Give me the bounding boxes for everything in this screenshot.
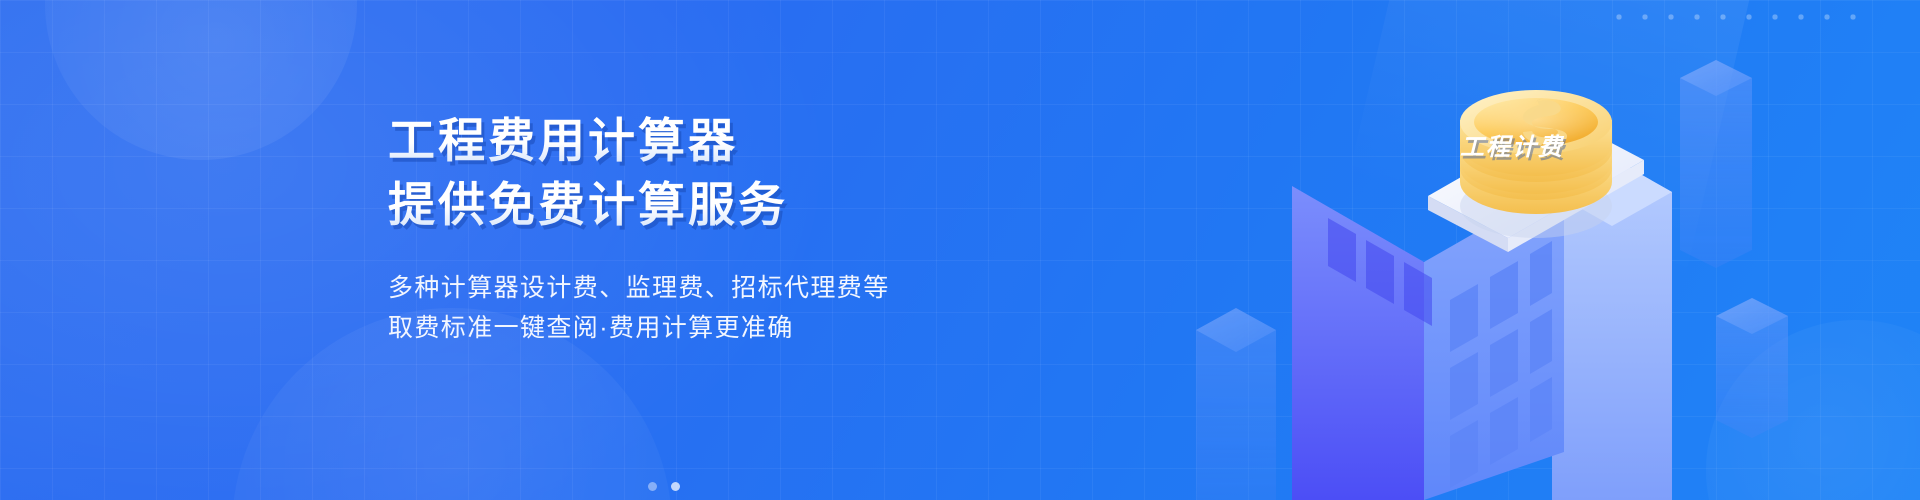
banner-copy: 工程费用计算器 提供免费计算服务 多种计算器设计费、监理费、招标代理费等 取费标… [388,112,948,348]
carousel-dot-2[interactable] [671,482,680,491]
banner-subtitle: 多种计算器设计费、监理费、招标代理费等 取费标准一键查阅·费用计算更准确 [388,268,948,348]
subtitle-line-2: 取费标准一键查阅·费用计算更准确 [388,308,948,348]
decorative-circle-top-left [45,0,357,160]
coin-stack [1460,90,1612,238]
hero-banner: 工程费用计算器 提供免费计算服务 多种计算器设计费、监理费、招标代理费等 取费标… [0,0,1920,500]
carousel-indicators[interactable] [648,482,680,491]
carousel-dot-1[interactable] [648,482,657,491]
headline-line-1: 工程费用计算器 [388,112,948,170]
illustration: 工程计费 [1160,0,1920,500]
illustration-svg [1160,0,1920,500]
illustration-label: 工程计费 [1460,127,1564,162]
subtitle-line-1: 多种计算器设计费、监理费、招标代理费等 [388,268,948,308]
headline-line-2: 提供免费计算服务 [388,176,948,234]
